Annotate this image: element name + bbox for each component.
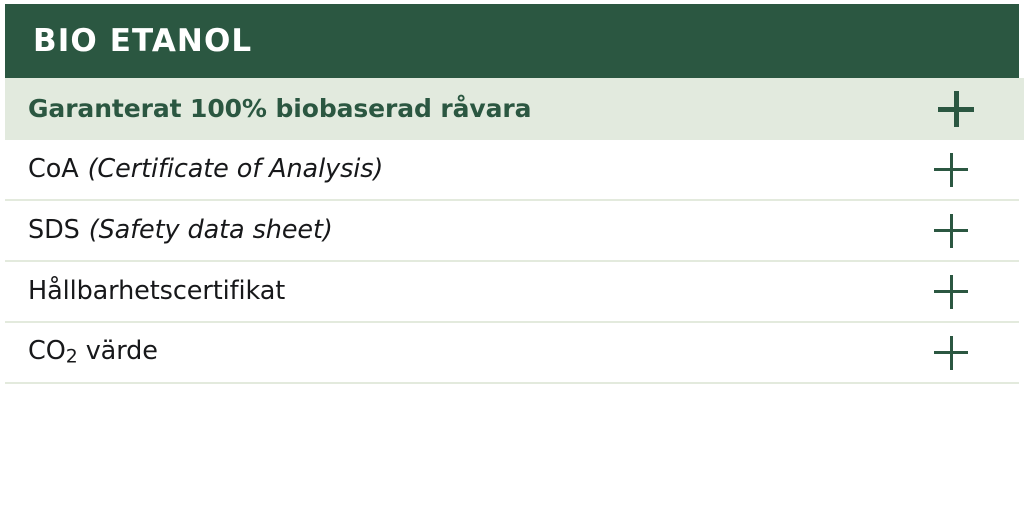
accordion-item-abbr: CoA	[28, 154, 79, 184]
accordion-item-abbr: SDS	[28, 215, 80, 245]
accordion-item-label: CO2 värde	[28, 337, 929, 367]
accordion-item-label: Garanterat 100% biobaserad råvara	[28, 95, 934, 123]
plus-icon-vertical-bar	[950, 275, 953, 309]
accordion-item-description: (Certificate of Analysis)	[88, 154, 384, 184]
panel-header: BIO ETANOL	[5, 4, 1019, 78]
plus-icon[interactable]	[929, 148, 973, 192]
plus-icon[interactable]	[934, 87, 978, 131]
accordion-item-co2-value[interactable]: CO2 värde	[5, 323, 1019, 384]
accordion-item-description: (Safety data sheet)	[89, 215, 333, 245]
plus-icon[interactable]	[929, 209, 973, 253]
accordion-item-sustainability-certificate[interactable]: Hållbarhetscertifikat	[5, 262, 1019, 323]
accordion-item-label: CoA(Certificate of Analysis)	[28, 155, 929, 183]
accordion-item-subscript: 2	[66, 346, 78, 368]
accordion-item-coa[interactable]: CoA(Certificate of Analysis)	[5, 140, 1019, 201]
accordion-item-sds[interactable]: SDS(Safety data sheet)	[5, 201, 1019, 262]
accordion-item-abbr: CO	[28, 336, 66, 366]
plus-icon-vertical-bar	[954, 91, 959, 127]
accordion-item-suffix: värde	[78, 336, 158, 366]
page-title: BIO ETANOL	[33, 26, 252, 57]
page-root: BIO ETANOL Garanterat 100% biobaserad rå…	[0, 0, 1024, 508]
accordion-list: Garanterat 100% biobaserad råvara CoA(Ce…	[5, 78, 1024, 384]
plus-icon-vertical-bar	[950, 153, 953, 187]
accordion-item-label: Hållbarhetscertifikat	[28, 277, 929, 305]
product-accordion-panel: BIO ETANOL Garanterat 100% biobaserad rå…	[5, 4, 1019, 384]
plus-icon-vertical-bar	[950, 214, 953, 248]
plus-icon[interactable]	[929, 270, 973, 314]
plus-icon[interactable]	[929, 331, 973, 375]
accordion-item-guaranteed-biobased[interactable]: Garanterat 100% biobaserad råvara	[5, 78, 1024, 140]
accordion-item-label: SDS(Safety data sheet)	[28, 216, 929, 244]
plus-icon-vertical-bar	[950, 336, 953, 370]
